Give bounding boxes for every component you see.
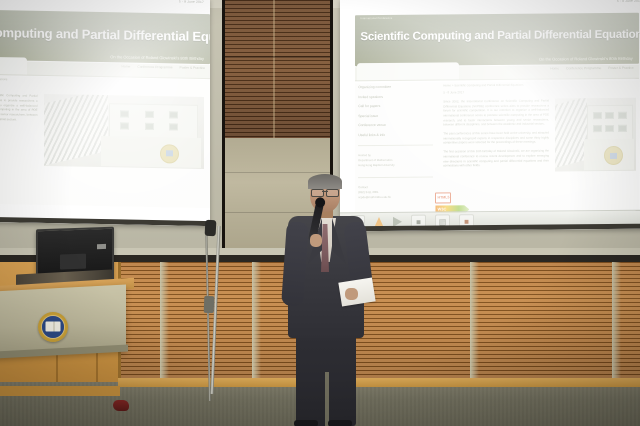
nav-link-poster-right[interactable]: Poster & Practice	[608, 66, 633, 70]
building-crest-icon	[160, 144, 179, 163]
presenter-hair	[308, 174, 342, 189]
slide-subtitle-right: On the Occasion of Roland Glowinski's 80…	[539, 56, 633, 62]
slide-sidebar: Organizing committee Invited speakers Ca…	[358, 85, 435, 210]
sidebar-item-call-for-papers[interactable]: Call for papers	[358, 104, 435, 109]
slide-paragraph-3: The first occasion of this 10th birthday…	[443, 149, 549, 169]
slide-subtitle: On the Occasion of Roland Glowinski's 80…	[110, 54, 204, 61]
nav-link-programme-right[interactable]: Conference Programme	[566, 67, 601, 71]
slide-paragraph: Since 2002, the International Conference…	[0, 92, 38, 122]
slide-main-content: Home > Scientific Computing and Partial …	[443, 82, 636, 210]
presenter-legs	[296, 334, 356, 426]
slide-title-right: Scientific Computing and Partial Differe…	[360, 28, 640, 43]
university-crest-icon	[38, 312, 68, 342]
slide-header-banner-right: International Conference Scientific Comp…	[355, 13, 638, 67]
slide-title: Scientific Computing and Partial Differe…	[0, 24, 210, 45]
nav-link-home-right[interactable]: Home	[550, 67, 559, 71]
slide-paragraph-1: Since 2002, the International Conference…	[443, 98, 549, 127]
sidebar-item-special-issue[interactable]: Special issue	[358, 113, 435, 118]
slide-navbar-right: Home Conference Programme Poster & Pract…	[355, 65, 638, 81]
slide-breadcrumb-right: Home > Scientific Computing and Partial …	[443, 82, 636, 88]
presenter-shoe-left	[294, 420, 318, 426]
nav-tab-active[interactable]	[0, 56, 27, 75]
sidebar-email[interactable]: scpde@math.hkbu.edu.hk	[358, 195, 435, 201]
sidebar-divider-2	[358, 176, 433, 178]
baseboard-trim-left	[0, 386, 120, 396]
mic-stand-clamp	[204, 296, 215, 313]
slide-body-right: Organizing committee Invited speakers Ca…	[355, 80, 638, 212]
dark-wood-panel	[222, 0, 333, 138]
nav-link-programme[interactable]: Conference Programme	[137, 65, 172, 70]
slide-content-right: 5 - 8 June 2017 International Conference…	[340, 0, 640, 231]
sidebar-item-conference-venue[interactable]: Conference venue	[358, 123, 435, 128]
red-object-on-floor	[113, 400, 129, 411]
baseboard-trim	[118, 378, 640, 387]
slide-content-left: 5 - 8 June 2017 International Conference…	[0, 0, 210, 226]
presenter	[286, 176, 368, 426]
slide-dateline: 5 - 8 June 2017	[179, 0, 204, 4]
slide-header-banner: International Conference Scientific Comp…	[0, 9, 210, 65]
slide-dateline-right: 5 - 8 June 2017	[617, 0, 640, 3]
sidebar-item-organizing-committee[interactable]: Organizing committee	[358, 85, 435, 90]
glasses-icon	[311, 189, 339, 195]
html5-badge-icon[interactable]: HTML5	[435, 192, 451, 203]
lecture-hall-scene: 5 - 8 June 2017 International Conference…	[0, 0, 640, 426]
presenter-shoe-right	[328, 420, 352, 426]
presenter-hand-right	[345, 288, 358, 300]
slide-kicker-right: International Conference	[360, 17, 392, 20]
sidebar-item-useful-links[interactable]: Useful links & info	[358, 132, 435, 137]
slide-paragraph-2: The past conferences of this series have…	[443, 131, 549, 146]
sidebar-divider	[358, 144, 433, 146]
nav-link-poster[interactable]: Poster & Practice	[180, 66, 205, 70]
presenter-hand-left	[310, 234, 322, 247]
projection-screen-left: 5 - 8 June 2017 International Conference…	[0, 0, 210, 226]
slide-body-left: Home > Scientific Computing and Partial …	[0, 75, 210, 208]
slide-building-photo	[44, 94, 205, 169]
sidebar-item-invited-speakers[interactable]: Invited speakers	[358, 94, 435, 99]
slide-date-right: 5 - 8 June 2017	[443, 89, 636, 95]
nav-link-home[interactable]: Home	[122, 65, 131, 69]
nav-tab-active-right[interactable]	[357, 63, 459, 81]
sidebar-university: Hong Kong Baptist University	[358, 163, 435, 169]
mic-stand-head-icon	[205, 220, 217, 237]
slide-building-photo-right	[555, 98, 636, 172]
projection-screen-right: 5 - 8 June 2017 International Conference…	[340, 0, 640, 231]
